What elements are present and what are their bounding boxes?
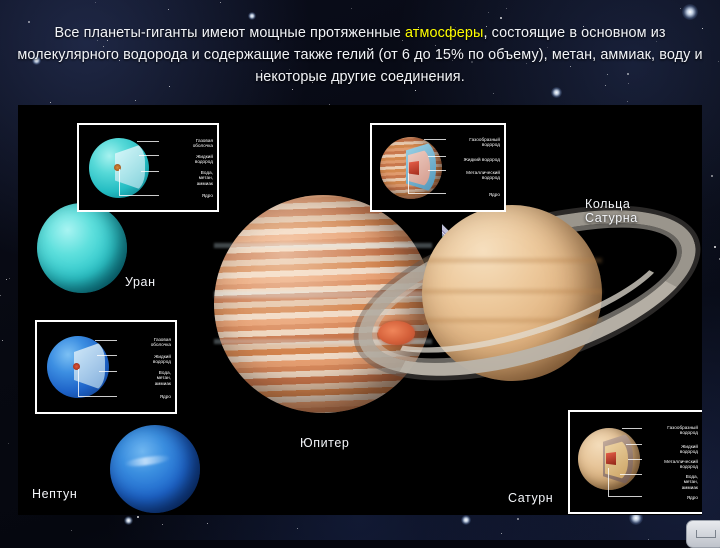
saturn-label-2: Металлический водород	[664, 459, 698, 470]
label-jupiter: Юпитер	[300, 436, 349, 450]
label-saturn-rings: Кольца Сатурна	[585, 197, 638, 225]
caption-text-part1: Все планеты-гиганты имеют мощные протяже…	[54, 25, 405, 41]
uranus-label-3: Ядро	[202, 193, 213, 198]
saturn-label-0: Газообразный водород	[667, 425, 698, 436]
inset-neptune-cutaway: Газовая оболочка Жидкий водород Вода, ме…	[35, 320, 177, 414]
caption-highlight-atmospheres: атмосферы	[405, 25, 483, 41]
saturn-label-4: Ядро	[687, 495, 698, 500]
inset-saturn-cutaway: Газообразный водород Жидкий водород Мета…	[568, 410, 702, 514]
jupiter-label-1: Жидкий водород	[464, 157, 500, 162]
page-title: Все планеты-гиганты имеют мощные протяже…	[8, 22, 712, 88]
neptune-label-3: Ядро	[160, 394, 171, 399]
saturn-label-1: Жидкий водород	[680, 444, 698, 455]
inset-jupiter-cutaway: Газообразный водород Жидкий водород Мета…	[370, 123, 506, 212]
jupiter-label-2: Металлический водород	[466, 170, 500, 181]
uranus-label-0: Газовая оболочка	[193, 138, 213, 149]
slide-background: Все планеты-гиганты имеют мощные протяже…	[0, 0, 720, 540]
planet-neptune	[110, 425, 200, 513]
uranus-label-2: Вода, метан, аммиак	[197, 170, 213, 186]
saturn-label-3: Вода, метан, аммиак	[682, 474, 698, 490]
jupiter-label-0: Газообразный водород	[469, 137, 500, 148]
label-uranus: Уран	[125, 275, 156, 289]
neptune-label-0: Газовая оболочка	[151, 337, 171, 348]
uranus-label-1: Жидкий водород	[195, 154, 213, 165]
solar-system-photo-panel: Уран Нептун Юпитер Сатурн Кольца Сатурна…	[18, 105, 702, 515]
neptune-label-2: Вода, метан, аммиак	[155, 370, 171, 386]
jupiter-label-3: Ядро	[489, 192, 500, 197]
neptune-label-1: Жидкий водород	[153, 354, 171, 365]
label-saturn: Сатурн	[508, 491, 553, 505]
label-neptune: Нептун	[32, 487, 77, 501]
widget-glyph-icon	[696, 530, 716, 538]
inset-uranus-cutaway: Газовая оболочка Жидкий водород Вода, ме…	[77, 123, 219, 212]
corner-widget[interactable]	[686, 520, 720, 548]
planet-uranus	[37, 203, 127, 293]
